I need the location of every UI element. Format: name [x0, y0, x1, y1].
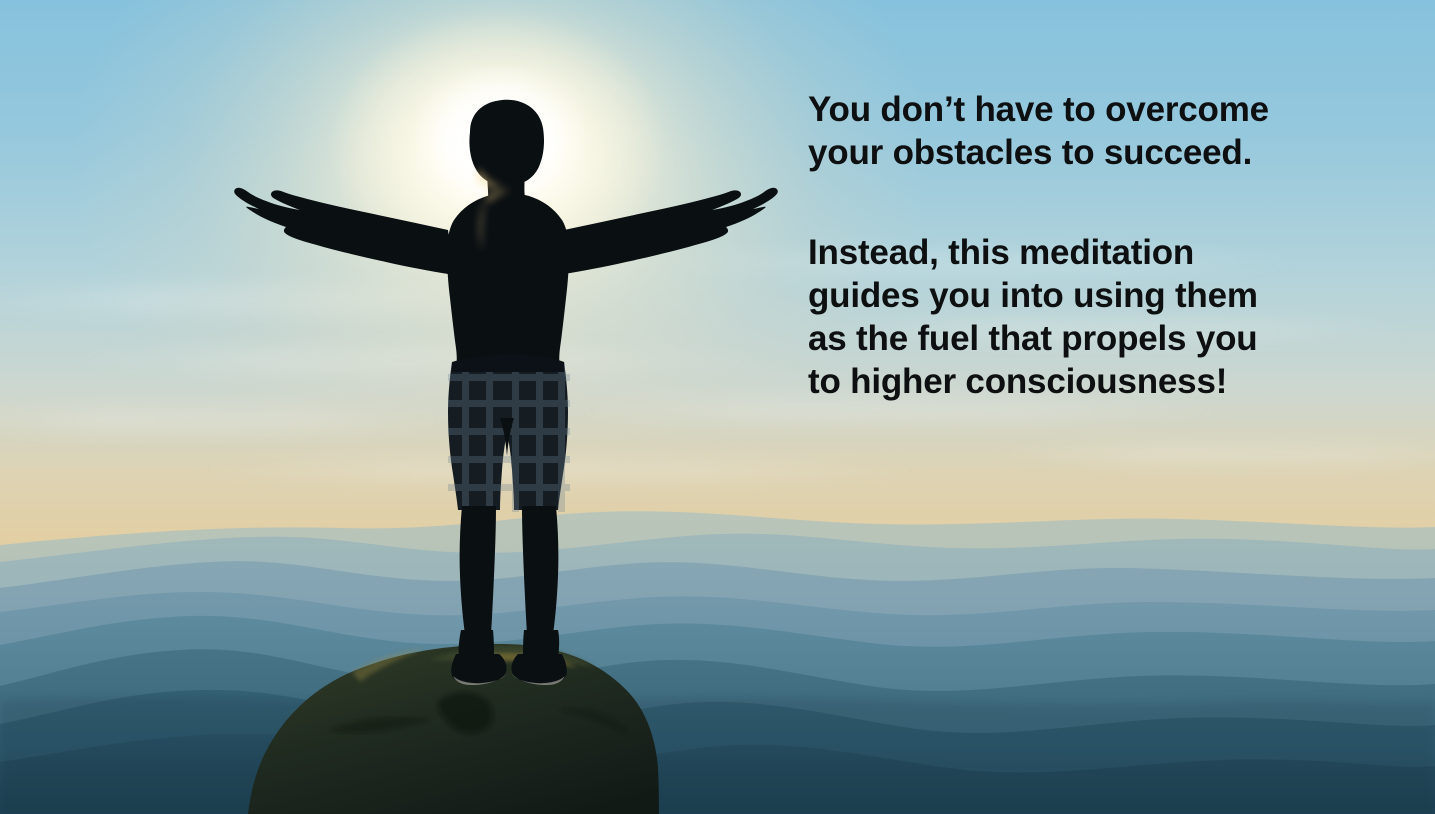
quote-overlay: You don’t have to overcome your obstacle… [808, 88, 1368, 403]
quote-paragraph-1: You don’t have to overcome your obstacle… [808, 88, 1368, 174]
right-sock [523, 630, 559, 658]
right-shoe [511, 654, 566, 684]
left-sock [459, 630, 494, 658]
left-shoe [451, 654, 506, 684]
ridge-texture [0, 697, 1435, 814]
quote-paragraph-2: Instead, this meditation guides you into… [808, 231, 1368, 403]
left-leg [460, 506, 496, 634]
torso [447, 193, 569, 368]
motivational-quote-image: You don’t have to overcome your obstacle… [0, 0, 1435, 814]
shorts [448, 354, 570, 512]
right-leg [522, 506, 558, 634]
